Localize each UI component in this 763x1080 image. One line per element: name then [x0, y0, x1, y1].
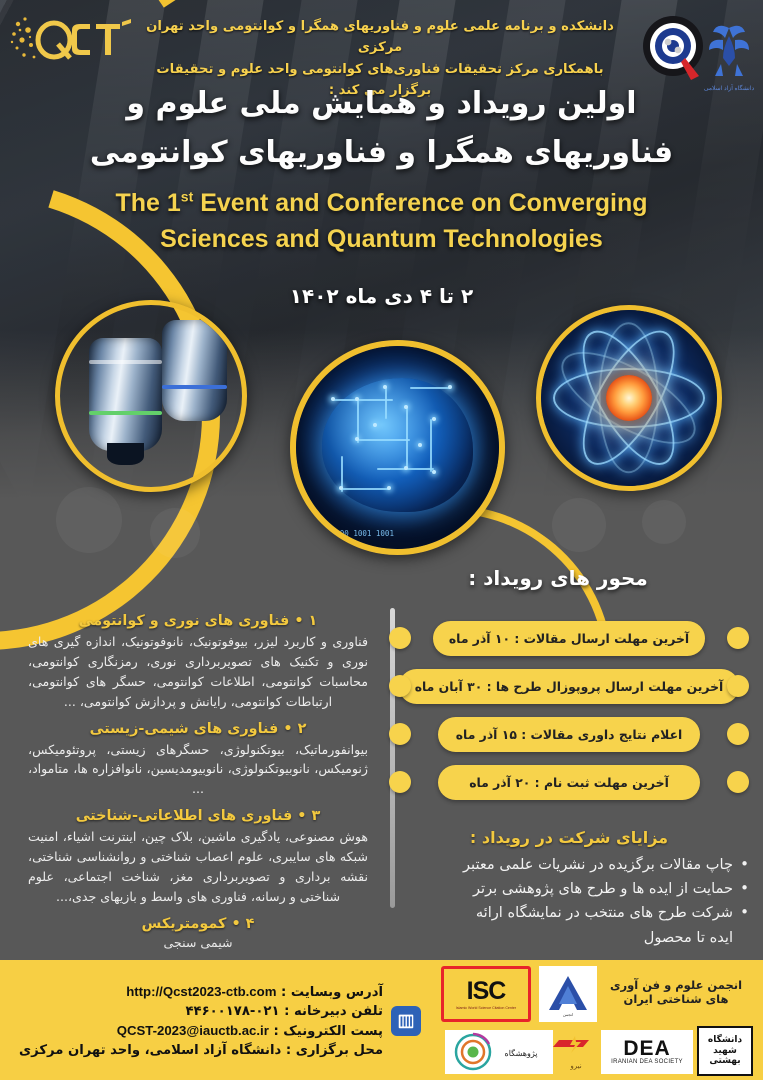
pill-dot-left — [389, 723, 411, 745]
svg-text:نیرو: نیرو — [569, 1063, 581, 1070]
ordinal-suffix: st — [181, 189, 193, 205]
poster-header: دانشکده و برنامه علمی علوم و فناوریهای ه… — [0, 0, 763, 92]
deadline-row: آخرین مهلت ارسال پروپوزال طرح ها : ۳۰ آب… — [383, 662, 755, 710]
topic-number: ۳ — [311, 808, 320, 824]
english-title-line-1: The 1st Event and Conference on Convergi… — [0, 186, 763, 222]
venue-line: محل برگزاری : دانشگاه آزاد اسلامی، واحد … — [6, 1041, 383, 1060]
phone-value: ۰۲۱-۴۴۶۰۰۱۷۸ — [185, 1004, 279, 1019]
isc-logo-subtext: Islamic World Science Citation Center — [456, 1006, 516, 1010]
pill-dot-right — [727, 723, 749, 745]
topic-label: فناوری های اطلاعاتی-شناختی — [76, 808, 293, 824]
building-icon — [391, 1006, 421, 1036]
deadline-pill[interactable]: اعلام نتایج داوری مقالات : ۱۵ آذر ماه — [438, 717, 700, 752]
dea-society-logo: DEA IRANIAN DEA SOCIETY — [601, 1030, 693, 1074]
isc-logo: ISC Islamic World Science Citation Cente… — [441, 966, 531, 1022]
organizer-line-1: دانشکده و برنامه علمی علوم و فناوریهای ه… — [145, 16, 615, 59]
pill-dot-right — [727, 675, 749, 697]
topic-body: هوش مصنوعی، یادگیری ماشین، بلاک چین، این… — [28, 827, 368, 907]
shahid-beheshti-university-logo: دانشگاه شهید بهشتی — [697, 1026, 753, 1076]
venue-label: محل برگزاری : — [286, 1043, 383, 1058]
persian-title: اولین رویداد و همایش ملی علوم و فناوریها… — [0, 80, 763, 177]
dea-logo-subtext: IRANIAN DEA SOCIETY — [611, 1059, 683, 1065]
svg-text:انجمن: انجمن — [563, 1012, 573, 1017]
deadline-row: آخرین مهلت ارسال مقالات : ۱۰ آذر ماه — [383, 614, 755, 662]
phone-label: تلفن دبیرخانه : — [284, 1004, 383, 1019]
benefit-item: چاپ مقالات برگزیده در نشریات علمی معتبر — [389, 853, 749, 877]
topic-label: کمومتریکس — [142, 916, 227, 932]
topic-label: فناوری های نوری و کوانتومی — [79, 613, 290, 629]
topic-number: ۲ — [298, 721, 307, 737]
topic-title: ۳ • فناوری های اطلاعاتی-شناختی — [28, 808, 368, 824]
benefits-section: مزایای شرکت در رویداد : چاپ مقالات برگزی… — [389, 828, 749, 950]
azad-university-logo — [709, 26, 749, 76]
phone-line: تلفن دبیرخانه : ۰۲۱-۴۴۶۰۰۱۷۸ — [6, 1002, 383, 1021]
contact-lines: آدرس وبسایت : http://Qcst2023-ctb.com تل… — [6, 982, 383, 1060]
deadline-pill[interactable]: آخرین مهلت ثبت نام : ۲۰ آذر ماه — [438, 765, 700, 800]
cognitive-society-logo: انجمن — [539, 966, 597, 1022]
sbu-logo-text: دانشگاه شهید بهشتی — [699, 1035, 751, 1066]
sponsor-logos: ISC Islamic World Science Citation Cente… — [433, 960, 763, 1080]
topic-body: شیمی سنجی — [28, 935, 368, 950]
poster-footer: ISC Islamic World Science Citation Cente… — [0, 960, 763, 1080]
topic-bullet: • — [231, 916, 240, 932]
topic-body: بیوانفورماتیک، بیوتکنولوژی، حسگرهای زیست… — [28, 740, 368, 800]
deadline-row: آخرین مهلت ثبت نام : ۲۰ آذر ماه — [383, 758, 755, 806]
benefits-heading: مزایای شرکت در رویداد : — [389, 828, 749, 847]
persian-title-line-2: فناوریهای همگرا و فناوریهای کوانتومی — [0, 129, 763, 178]
event-date: ۲ تا ۴ دی ماه ۱۴۰۲ — [0, 284, 763, 308]
quantum-center-logo — [643, 16, 703, 80]
isc-logo-text: ISC — [467, 979, 506, 1004]
english-title-rest: Event and Conference on Converging — [200, 189, 647, 217]
deadline-pill[interactable]: آخرین مهلت ارسال پروپوزال طرح ها : ۳۰ آب… — [399, 669, 740, 704]
persian-title-line-1: اولین رویداد و همایش ملی علوم و — [0, 80, 763, 129]
topic-number: ۴ — [246, 916, 255, 932]
topics-heading: محور های رویداد : — [393, 566, 723, 590]
benefit-item: شرکت طرح های منتخب در نمایشگاه ارائه — [389, 901, 749, 925]
venue-value: دانشگاه آزاد اسلامی، واحد تهران مرکزی — [19, 1043, 281, 1058]
qcst-logo — [8, 10, 136, 72]
contact-block: آدرس وبسایت : http://Qcst2023-ctb.com تل… — [0, 960, 433, 1080]
benefits-list: چاپ مقالات برگزیده در نشریات علمی معتبر … — [389, 853, 749, 950]
topic-item: ۱ • فناوری های نوری و کوانتومی فناوری و … — [28, 613, 368, 712]
ghost-circle-1 — [56, 487, 122, 553]
topics-list: ۱ • فناوری های نوری و کوانتومی فناوری و … — [28, 604, 368, 950]
topic-title: ۱ • فناوری های نوری و کوانتومی — [28, 613, 368, 629]
pill-dot-left — [389, 675, 411, 697]
benefit-item: حمایت از ایده ها و طرح های پژوهشی برتر — [389, 877, 749, 901]
pill-dot-right — [727, 627, 749, 649]
topic-title: ۲ • فناوری های شیمی-زیستی — [28, 721, 368, 737]
topic-item: ۴ • کمومتریکس شیمی سنجی — [28, 916, 368, 950]
cognitive-society-label: انجمن علوم و فن آوری های شناختی ایران — [601, 978, 751, 1006]
website-line[interactable]: آدرس وبسایت : http://Qcst2023-ctb.com — [6, 982, 383, 1002]
topic-body: فناوری و کاربرد لیزر، بیوفوتونیک، نانوفو… — [28, 632, 368, 712]
secondary-institute-logo: پژوهشگاه — [445, 1030, 553, 1074]
ghost-circle-3 — [552, 498, 606, 552]
ghost-circle-2 — [150, 508, 200, 558]
power-research-logo: نیرو — [553, 1030, 599, 1074]
benefit-item-continuation: ایده تا محصول — [389, 926, 749, 950]
website-label: آدرس وبسایت : — [281, 985, 383, 1000]
topic-bullet: • — [283, 721, 292, 737]
binary-code-caption: 0110 0100 1001 1001 — [308, 529, 394, 539]
deadlines-list: آخرین مهلت ارسال مقالات : ۱۰ آذر ماه آخر… — [383, 614, 755, 806]
circuit-brain-image: 0110 0100 1001 1001 — [290, 340, 505, 555]
conference-poster: دانشکده و برنامه علمی علوم و فناوریهای ه… — [0, 0, 763, 1080]
atom-image — [536, 305, 722, 491]
topic-bullet: • — [297, 808, 306, 824]
topic-item: ۲ • فناوری های شیمی-زیستی بیوانفورماتیک،… — [28, 721, 368, 800]
microscope-image — [55, 300, 247, 492]
deadline-pill[interactable]: آخرین مهلت ارسال مقالات : ۱۰ آذر ماه — [433, 621, 705, 656]
english-title-line-2: Sciences and Quantum Technologies — [0, 222, 763, 258]
topic-label: فناوری های شیمی-زیستی — [90, 721, 279, 737]
topic-bullet: • — [294, 613, 303, 629]
svg-text:پژوهشگاه: پژوهشگاه — [505, 1048, 538, 1058]
email-value[interactable]: QCST-2023@iauctb.ac.ir — [117, 1023, 269, 1038]
dea-logo-text: DEA — [611, 1039, 683, 1059]
topic-number: ۱ — [309, 613, 318, 629]
pill-dot-left — [389, 771, 411, 793]
topic-title: ۴ • کمومتریکس — [28, 916, 368, 932]
pill-dot-left — [389, 627, 411, 649]
website-value[interactable]: http://Qcst2023-ctb.com — [126, 984, 276, 999]
email-label: پست الکترونیک : — [273, 1024, 383, 1039]
email-line[interactable]: پست الکترونیک : QCST-2023@iauctb.ac.ir — [6, 1021, 383, 1041]
ghost-circle-4 — [642, 500, 686, 544]
topic-item: ۳ • فناوری های اطلاعاتی-شناختی هوش مصنوع… — [28, 808, 368, 907]
english-title-prefix: The 1 — [116, 189, 181, 217]
pill-dot-right — [727, 771, 749, 793]
deadline-row: اعلام نتایج داوری مقالات : ۱۵ آذر ماه — [383, 710, 755, 758]
english-title: The 1st Event and Conference on Convergi… — [0, 186, 763, 257]
